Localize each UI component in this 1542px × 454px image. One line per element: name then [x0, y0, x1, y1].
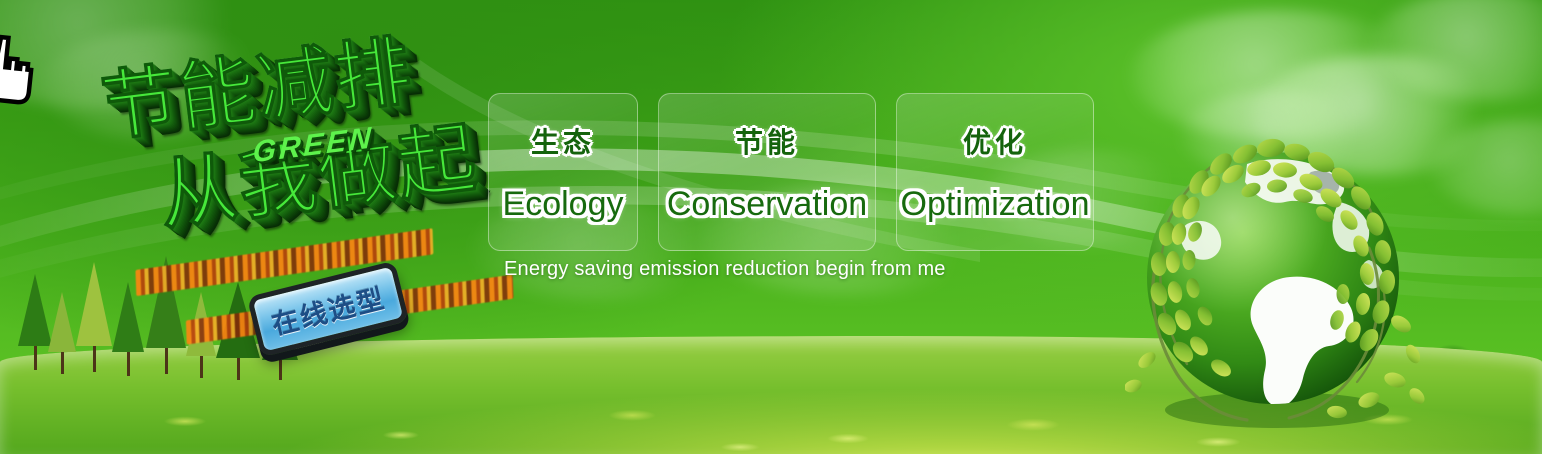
feature-en-label: Conservation: [667, 185, 867, 224]
conifer-tree: [76, 262, 112, 372]
banner-tagline: Energy saving emission reduction begin f…: [504, 258, 946, 281]
feature-box-ecology[interactable]: 生态 Ecology: [488, 93, 638, 251]
feature-en-label: Ecology: [503, 185, 624, 224]
feature-box-conservation[interactable]: 节能 Conservation: [658, 93, 876, 251]
conifer-tree: [18, 274, 52, 370]
conifer-tree: [48, 292, 76, 374]
feature-cn-label: 优化: [963, 121, 1027, 161]
feature-en-label: Optimization: [901, 185, 1090, 224]
eco-banner: 节能减排 从我做起 GREEN 在线选型 生态 Ecology 节能 Conse…: [0, 0, 1542, 454]
feature-cn-label: 节能: [735, 121, 799, 161]
leafy-earth-globe: [1125, 128, 1425, 428]
feature-box-row: 生态 Ecology 节能 Conservation 优化 Optimizati…: [488, 93, 1094, 251]
feature-box-optimization[interactable]: 优化 Optimization: [896, 93, 1094, 251]
headline-3d: 节能减排 从我做起 GREEN: [91, 20, 516, 297]
feature-cn-label: 生态: [531, 121, 595, 161]
